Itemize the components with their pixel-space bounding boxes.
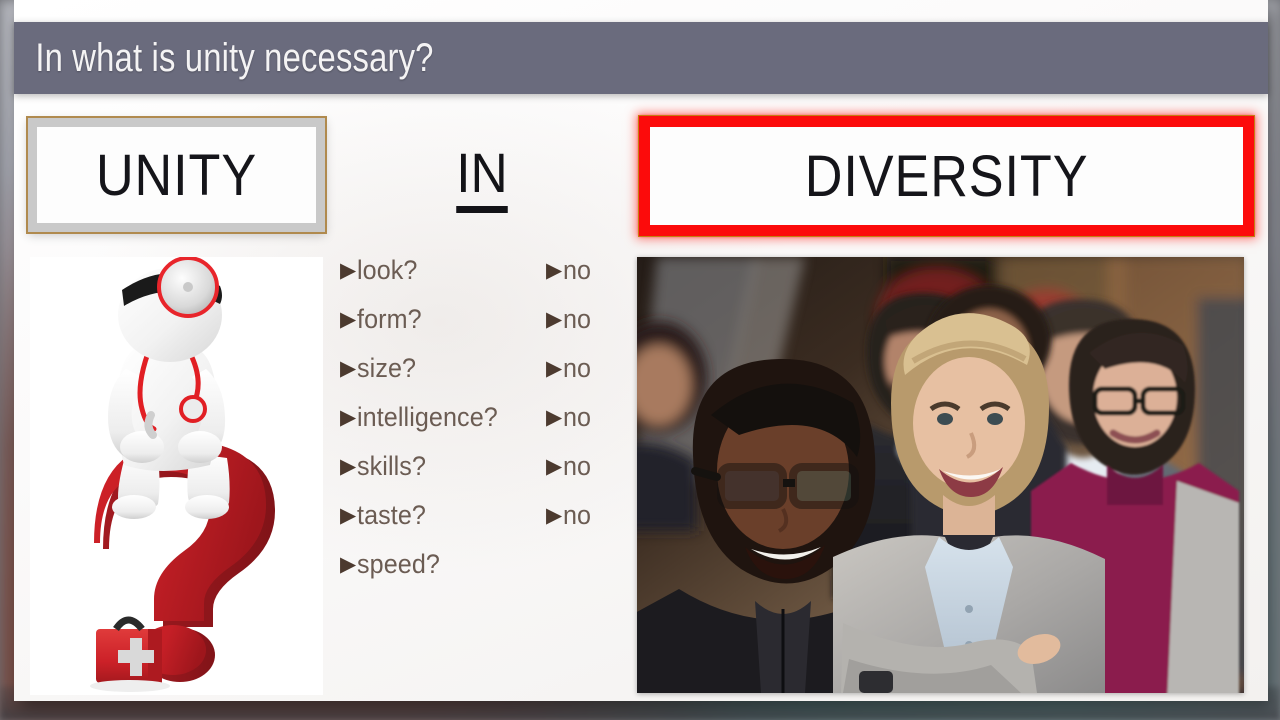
triangle-right-icon: ▶: [546, 260, 562, 281]
triangle-right-icon: ▶: [340, 358, 356, 379]
answer-label: no: [563, 402, 591, 433]
answer-label: no: [563, 353, 591, 384]
answer-label: no: [563, 451, 591, 482]
slide-sheet: In what is unity necessary? UNITY IN DIV…: [14, 0, 1268, 701]
attribute-item: ▶taste?: [340, 500, 509, 549]
answer-label: no: [563, 304, 591, 335]
triangle-right-icon: ▶: [340, 456, 356, 477]
answer-item: ▶no: [546, 500, 593, 549]
attribute-answer-list: ▶look?▶form?▶size?▶intelligence?▶skills?…: [324, 255, 634, 695]
answer-item: ▶no: [546, 353, 593, 402]
attribute-label: speed?: [357, 549, 440, 580]
slide-stage: In what is unity necessary? UNITY IN DIV…: [0, 0, 1280, 720]
attribute-item: ▶skills?: [340, 451, 509, 500]
doctor-on-question-mark-clipart: [30, 257, 323, 695]
triangle-right-icon: ▶: [546, 456, 562, 477]
answer-item: ▶no: [546, 402, 593, 451]
answer-item: ▶no: [546, 304, 593, 353]
triangle-right-icon: ▶: [340, 309, 356, 330]
triangle-right-icon: ▶: [546, 358, 562, 379]
attribute-label: look?: [357, 255, 417, 286]
attribute-item: ▶intelligence?: [340, 402, 509, 451]
attribute-item: ▶form?: [340, 304, 509, 353]
content-row: ▶look?▶form?▶size?▶intelligence?▶skills?…: [14, 245, 1268, 695]
attribute-label: intelligence?: [357, 402, 498, 433]
answer-item: ▶no: [546, 255, 593, 304]
page-title: In what is unity necessary?: [14, 36, 434, 81]
in-word: IN: [456, 141, 508, 213]
triangle-right-icon: ▶: [546, 505, 562, 526]
in-word-wrapper: IN: [431, 140, 532, 205]
unity-word-box: UNITY: [28, 118, 325, 232]
answer-item: ▶no: [546, 451, 593, 500]
triangle-right-icon: ▶: [546, 309, 562, 330]
answer-label: no: [563, 500, 591, 531]
attribute-label: taste?: [357, 500, 426, 531]
triangle-right-icon: ▶: [340, 260, 356, 281]
answers-column: ▶no▶no▶no▶no▶no▶no: [546, 255, 593, 549]
attribute-item: ▶speed?: [340, 549, 509, 598]
answer-label: no: [563, 255, 591, 286]
diversity-word-box: DIVERSITY: [639, 116, 1254, 236]
triangle-right-icon: ▶: [546, 407, 562, 428]
headline-row: UNITY IN DIVERSITY: [14, 110, 1268, 240]
triangle-right-icon: ▶: [340, 407, 356, 428]
attribute-label: skills?: [357, 451, 426, 482]
attribute-item: ▶size?: [340, 353, 509, 402]
diverse-business-people-photo: [637, 257, 1244, 693]
triangle-right-icon: ▶: [340, 505, 356, 526]
unity-word: UNITY: [96, 142, 257, 209]
attribute-label: form?: [357, 304, 422, 335]
diversity-word: DIVERSITY: [805, 143, 1089, 210]
attributes-column: ▶look?▶form?▶size?▶intelligence?▶skills?…: [340, 255, 509, 598]
triangle-right-icon: ▶: [340, 554, 356, 575]
attribute-item: ▶look?: [340, 255, 509, 304]
slide-title-bar: In what is unity necessary?: [14, 22, 1268, 94]
attribute-label: size?: [357, 353, 416, 384]
